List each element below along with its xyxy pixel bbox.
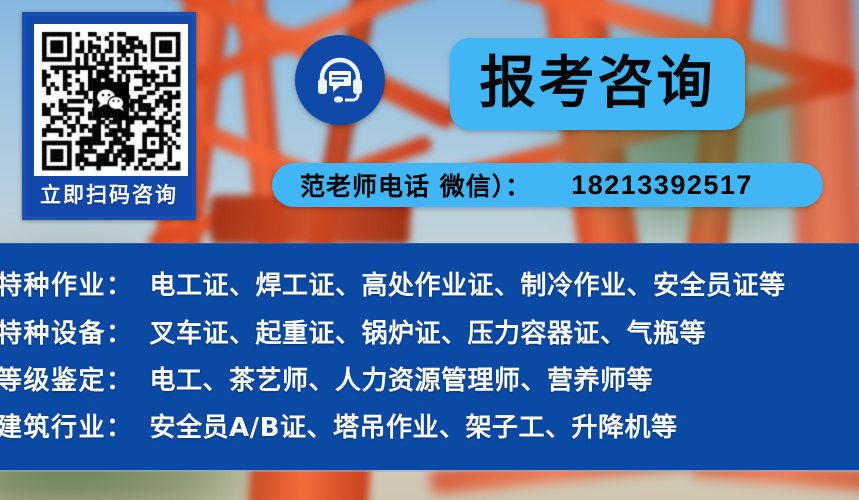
category-row: 特种作业： 电工证、焊工证、高处作业证、制冷作业、安全员证等	[0, 260, 786, 306]
certificate-category-panel: 特种作业： 电工证、焊工证、高处作业证、制冷作业、安全员证等 特种设备： 叉车证…	[0, 243, 859, 470]
qr-code-image	[34, 24, 188, 176]
panel-bottom-divider	[0, 470, 859, 472]
contact-phone-bar[interactable]: 范老师电话 微信）： 18213392517	[272, 163, 823, 207]
contact-phone-number: 18213392517	[571, 170, 753, 201]
promo-poster: 立即扫码咨询 报考咨询 范老师电话 微信）： 18213392517 特种作业：…	[0, 0, 859, 500]
category-name: 等级鉴定：	[0, 360, 134, 397]
category-row: 等级鉴定： 电工、茶艺师、人力资源管理师、营养师等	[0, 355, 653, 401]
category-name: 特种作业：	[0, 265, 134, 302]
contact-name-label: 范老师电话 微信）：	[300, 167, 531, 203]
qr-caption: 立即扫码咨询	[26, 179, 192, 209]
headset-support-badge[interactable]	[295, 35, 385, 125]
apply-consult-button[interactable]: 报考咨询	[450, 38, 745, 130]
category-row: 建筑行业： 安全员A/B证、塔吊作业、架子工、升降机等	[0, 402, 677, 448]
category-items: 电工证、焊工证、高处作业证、制冷作业、安全员证等	[150, 265, 786, 302]
category-items: 叉车证、起重证、锅炉证、压力容器证、气瓶等	[150, 313, 707, 350]
category-name: 特种设备：	[0, 313, 134, 350]
category-items: 安全员A/B证、塔吊作业、架子工、升降机等	[150, 407, 678, 444]
category-name: 建筑行业：	[0, 407, 134, 444]
qr-card[interactable]: 立即扫码咨询	[22, 12, 196, 220]
headset-icon	[314, 54, 366, 106]
category-items: 电工、茶艺师、人力资源管理师、营养师等	[150, 360, 654, 397]
category-row: 特种设备： 叉车证、起重证、锅炉证、压力容器证、气瓶等	[0, 308, 706, 354]
apply-consult-label: 报考咨询	[480, 56, 716, 112]
